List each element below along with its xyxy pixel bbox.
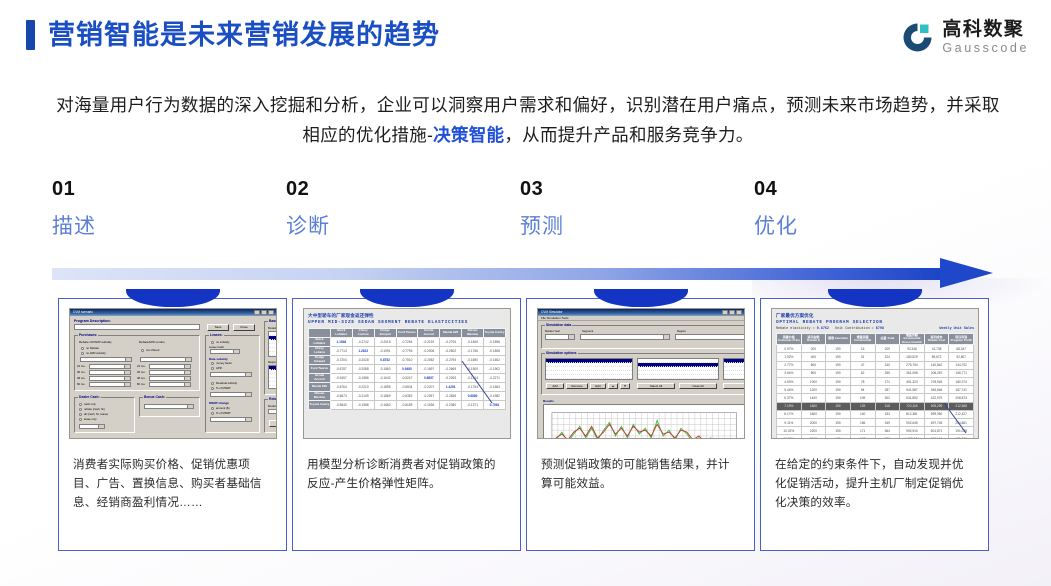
table-cell: 180,374 — [949, 377, 974, 385]
table-cell: 240 — [875, 361, 900, 369]
base-incentives-group: Base incentives Model(s) Select All Clea… — [264, 321, 277, 395]
table-cell: -0.2192 — [418, 337, 440, 346]
table-row: 3.64%80019062255361,058206,287156,771 — [777, 369, 974, 377]
table-cell: 16 — [850, 345, 875, 353]
term-48-combo-a[interactable] — [89, 376, 131, 381]
arrow-shaft — [52, 268, 945, 280]
card-describe[interactable]: CVM scenario Program Description: Purcha… — [58, 298, 287, 551]
dealer-cash-label: Dealer Cash: — [78, 395, 101, 399]
column-header: 销售价格 Customer Price — [777, 334, 802, 345]
table-cell: -0.6673 — [330, 391, 352, 400]
dialog-title-bar: CVM scenario — [70, 309, 276, 316]
table-cell: 287 — [875, 386, 900, 394]
table-cell: 156 — [850, 418, 875, 426]
segment-label: Segment — [582, 329, 593, 333]
lease-only-radio[interactable] — [79, 418, 82, 421]
results-label: Results — [543, 399, 554, 403]
bonus-cash-label: Bonus Cash: — [143, 395, 166, 399]
table-cell: 134,702 — [949, 361, 974, 369]
table-cell: -0.7713 — [330, 346, 352, 355]
table-cell: -0.2210 — [352, 382, 374, 391]
brand-logo: 高科数聚 Gausscode — [901, 20, 1029, 55]
term-36-combo-a[interactable] — [89, 370, 131, 375]
term-24-combo-a[interactable] — [89, 364, 131, 369]
card-screenshot-optimal: 厂家最优方案优化 OPTIMAL REBATE PROGRAM SELECTIO… — [771, 308, 979, 439]
window-controls[interactable] — [722, 309, 742, 316]
list-item — [546, 375, 632, 379]
table-cell: 361,058 — [900, 369, 925, 377]
table-cell: -0.2669 — [440, 364, 462, 373]
table-cell: 5.44% — [777, 386, 802, 394]
simulation-chart: JanAprJul OctDec Month Dodge Dakota sim … — [543, 404, 745, 439]
table-cell: 1.1548 — [330, 337, 352, 346]
table-cell: 349 — [875, 418, 900, 426]
column-header: 增量贡献 Incremental Gross Contrib — [900, 334, 925, 345]
term-60-combo-b[interactable] — [149, 382, 191, 387]
pct-msrp-radio[interactable] — [211, 387, 214, 390]
card-tab — [828, 289, 922, 307]
apr-combo[interactable] — [140, 357, 192, 362]
not-offered-label: not offered — [146, 348, 159, 352]
table-row: Buick LeSabre1.1548-0.2742-0.2018-0.7254… — [309, 337, 506, 346]
remove-button[interactable]: Remove — [566, 383, 588, 389]
table-cell: 992,910 — [900, 427, 925, 435]
slide-root: 营销智能是未来营销发展的趋势 高科数聚 Gausscode 对海量用户行为数据的… — [0, 0, 1051, 586]
table-cell: -0.6362 — [396, 391, 418, 400]
table-cell: 140,842 — [924, 361, 949, 369]
no-subsidy-radio[interactable] — [211, 341, 214, 344]
table-row: 2.77%60019047240275,754140,842134,702 — [777, 361, 974, 369]
simulation-options-group: Simulation options Add Remove Edit ▲ ▼ S… — [541, 353, 745, 395]
list-item — [269, 352, 277, 356]
rebase-incentives-group: Rebase incentives Model Region Clear Res… — [264, 399, 277, 433]
matrix-title-en: UPPER MID-SIZE SEDAN SEGMENT REBATE ELAS… — [308, 320, 506, 325]
step-number: 02 — [286, 178, 486, 201]
table-cell: 8.17% — [777, 410, 802, 418]
table-cell: 187,741 — [949, 386, 974, 394]
table-cell: 78 — [850, 377, 875, 385]
menu-bar[interactable]: File Simulation Tools — [538, 316, 744, 321]
table-cell: -0.5497 — [330, 373, 352, 382]
term-48-combo-b[interactable] — [149, 376, 191, 381]
table-cell: 180,529 — [900, 353, 925, 361]
gausscode-logo-icon — [901, 21, 934, 54]
rate-combo[interactable] — [210, 372, 252, 377]
table-cell: 812,381 — [900, 410, 925, 418]
optimal-title-en: OPTIMAL REBATE PROGRAM SELECTION — [776, 320, 974, 325]
table-cell: -0.2018 — [374, 337, 396, 346]
column-header: 返利成本 Rebate Cost — [924, 334, 949, 345]
table-cell: -0.1869 — [374, 391, 396, 400]
region-combo[interactable] — [675, 334, 745, 340]
column-header: 总量 Total — [875, 334, 900, 345]
options-list[interactable] — [545, 358, 633, 380]
table-header-row: Buick LeSabreChevy LuminaDodge IntrepidF… — [309, 328, 506, 337]
purchases-group: Purchases: Rebate CP/APR subsidy RebateA… — [74, 335, 200, 391]
table-row: 4.53%100019078271451,323278,949180,374 — [777, 377, 974, 385]
table-cell: 206,287 — [924, 369, 949, 377]
logo-name-en: Gausscode — [942, 42, 1029, 55]
table-cell: 2200 — [801, 427, 826, 435]
list-item — [269, 382, 277, 386]
lease-only-label: lease only — [84, 417, 97, 421]
step-item-1: 01 描述 — [52, 178, 252, 240]
table-cell: -0.1808 — [484, 346, 506, 355]
move-down-button[interactable]: ▼ — [620, 383, 630, 389]
table-cell: 190 — [826, 361, 851, 369]
program-description-input[interactable] — [74, 324, 200, 330]
table-cell: 318 — [875, 402, 900, 410]
table-cell: 190 — [826, 386, 851, 394]
table-cell: 4.53% — [777, 377, 802, 385]
table-cell: 1,083,174 — [900, 435, 925, 439]
column-header: Dodge Intrepid — [374, 328, 396, 337]
table-header-row: 销售价格 Customer Price返利金额 Rebate $期限 Incen… — [777, 334, 974, 345]
logo-name-cn: 高科数聚 — [942, 20, 1029, 39]
card-row: CVM scenario Program Description: Purcha… — [0, 298, 1051, 558]
step-labels: 01 描述 02 诊断 03 预测 04 优化 — [0, 178, 1051, 248]
all-cash-label: all (cash, fin, lease) — [84, 412, 108, 416]
table-cell: -0.2093 — [440, 373, 462, 382]
row-header: Ford Taurus — [309, 364, 331, 373]
arrow-head-icon — [940, 258, 993, 288]
column-header: 返利金额 Rebate $ — [801, 334, 826, 345]
table-cell: -0.5640 — [330, 400, 352, 409]
table-cell: -0.7793 — [396, 346, 418, 355]
table-cell: 255 — [875, 369, 900, 377]
leases-group: Leases: no subsidy Lease Cash Rate subsi… — [205, 335, 260, 433]
rebate-incl-radio[interactable] — [79, 408, 82, 411]
step-item-4: 04 优化 — [754, 178, 954, 240]
list-item — [638, 375, 718, 379]
bonus-cash-combo[interactable] — [144, 404, 194, 409]
optimal-subtitle: Rebate elasticity = 0.8752 Unit Contribu… — [776, 327, 974, 331]
table-cell: -0.1896 — [484, 337, 506, 346]
table-cell: 0.97% — [777, 345, 802, 353]
window-controls[interactable] — [254, 309, 274, 316]
region-label: Region — [677, 329, 686, 333]
table-cell: 92,807 — [949, 353, 974, 361]
card-screenshot-matrix: 大中型轿车的厂家现金返还弹性 UPPER MID-SIZE SEDAN SEGM… — [303, 308, 511, 439]
table-cell: -0.5247 — [396, 373, 418, 382]
rebate-combo[interactable] — [80, 357, 132, 362]
table-cell: -0.2149 — [352, 391, 374, 400]
residual-subsidy-radio[interactable] — [211, 382, 214, 385]
save-button[interactable]: Save — [207, 324, 229, 331]
matrix-title-cn: 大中型轿车的厂家现金返还弹性 — [308, 313, 506, 319]
table-cell: 190 — [826, 353, 851, 361]
rebate-incl-label: rebate (cash, fin) — [84, 407, 105, 411]
term-36-combo-b[interactable] — [149, 370, 191, 375]
table-cell: 156,771 — [949, 369, 974, 377]
dialog-title-text: CVM scenario — [73, 309, 93, 316]
slide-header: 营销智能是未来营销发展的趋势 — [26, 20, 440, 50]
table-cell: -0.1991 — [374, 346, 396, 355]
card-screenshot-simulation: CVM Simulator File Simulation Tools Simu… — [537, 308, 745, 439]
table-cell: 2400 — [801, 435, 826, 439]
table-cell: 93,346 — [900, 345, 925, 353]
table-cell: 224 — [875, 353, 900, 361]
simulation-data-group: Simulation data Market Year Segment Regi… — [541, 325, 745, 349]
table-cell: -0.7510 — [396, 355, 418, 364]
cash-only-radio[interactable] — [79, 403, 82, 406]
table-cell: 1000 — [801, 377, 826, 385]
clear-button[interactable]: Clear — [269, 420, 277, 427]
table-cell: -0.2836 — [440, 391, 462, 400]
table-cell: 1.2623 — [352, 346, 374, 355]
dialog-title-text: CVM Simulator — [541, 309, 562, 316]
graph-button[interactable]: Graph — [723, 383, 745, 389]
table-cell: 10.02% — [777, 427, 802, 435]
step-item-2: 02 诊断 — [286, 178, 486, 240]
table-cell: 0.8857 — [418, 373, 440, 382]
table-cell: -0.2380 — [440, 400, 462, 409]
table-cell: -0.2742 — [352, 337, 374, 346]
simulation-options-label: Simulation options — [545, 351, 578, 355]
column-header: Chevy Lumina — [352, 328, 374, 337]
table-cell: 10.93% — [777, 435, 802, 439]
select-all-button[interactable]: Select All — [637, 383, 675, 389]
table-cell: 68,347 — [949, 345, 974, 353]
table-cell: 333 — [875, 410, 900, 418]
simulator-window-mock: CVM Simulator File Simulation Tools Simu… — [538, 309, 744, 438]
column-header: 增量销量 Incremental — [850, 334, 875, 345]
rebate-apr-label: RebateAPR combo — [139, 340, 165, 344]
table-cell: 0.9480 — [396, 364, 418, 373]
step-number: 01 — [52, 178, 252, 201]
leases-label: Leases: — [209, 333, 224, 337]
column-header: Mazda 626 — [440, 328, 462, 337]
msrp-pct-radio[interactable] — [211, 412, 214, 415]
table-cell: 1.4291 — [440, 382, 462, 391]
table-cell: -0.1840 — [462, 337, 484, 346]
minimize-icon — [254, 310, 260, 315]
no-subsidy-label: no subsidy — [216, 340, 229, 344]
table-cell: -0.1660 — [374, 400, 396, 409]
no-rebate-label: no Rebate — [86, 346, 99, 350]
table-cell: -0.2028 — [352, 355, 374, 364]
card-predict[interactable]: CVM Simulator File Simulation Tools Simu… — [526, 298, 755, 551]
table-cell: -0.7204 — [330, 355, 352, 364]
table-cell: 1200 — [801, 386, 826, 394]
column-header: Ford Taurus — [396, 328, 418, 337]
column-header: Honda Accord — [418, 328, 440, 337]
close-button[interactable]: Close — [233, 324, 255, 331]
table-cell: 190 — [826, 369, 851, 377]
table-cell: -0.1642 — [374, 373, 396, 382]
table-cell: 631,852 — [900, 394, 925, 402]
logo-text: 高科数聚 Gausscode — [942, 20, 1029, 55]
regions-list[interactable] — [268, 365, 277, 389]
market-year-combo[interactable] — [545, 334, 575, 340]
base-incentives-label: Base incentives — [268, 319, 277, 323]
table-cell: 200 — [801, 345, 826, 353]
term-60-combo-a[interactable] — [89, 382, 131, 387]
msrp-change-combo[interactable] — [210, 417, 252, 422]
close-icon — [268, 310, 274, 315]
table-cell: 47 — [850, 361, 875, 369]
rebase-label: Rebase incentives — [268, 397, 277, 401]
card-caption: 消费者实际购买价格、促销优惠项目、广告、置换信息、购买者基础信息、经销商盈利情况… — [69, 455, 276, 512]
table-cell: 190 — [826, 410, 851, 418]
card-diagnose[interactable]: 大中型轿车的厂家现金返还弹性 UPPER MID-SIZE SEDAN SEGM… — [292, 298, 521, 551]
optimal-annotation-line — [942, 401, 968, 435]
market-year-label: Market Year — [545, 329, 560, 333]
all-cash-radio[interactable] — [79, 413, 82, 416]
residual-subsidy-label: Residual subsidy — [216, 381, 237, 385]
table-cell: 6.37% — [777, 394, 802, 402]
amount-label: amount ($) — [216, 406, 230, 410]
purchases-label: Purchases: — [78, 333, 98, 337]
models-list[interactable] — [268, 331, 277, 357]
step-label: 诊断 — [286, 210, 486, 240]
table-cell: -0.1697 — [418, 364, 440, 373]
table-cell: -0.6189 — [396, 400, 418, 409]
table-cell: -0.1936 — [418, 400, 440, 409]
money-factor-radio[interactable] — [211, 362, 214, 365]
term-24-combo-b[interactable] — [149, 364, 191, 369]
apr-label: APR — [216, 366, 222, 370]
table-cell: 190 — [826, 435, 851, 439]
table-cell: 7.19% — [777, 402, 802, 410]
table-cell: 89,672 — [924, 353, 949, 361]
models-label: Model(s) — [268, 326, 277, 330]
not-offered-radio[interactable] — [141, 349, 144, 352]
table-cell: -0.6764 — [330, 382, 352, 391]
dealer-cash-group: Dealer Cash: cash only rebate (cash, fin… — [74, 397, 135, 433]
lease-cash-combo[interactable] — [210, 349, 240, 354]
table-cell: 171,000 — [949, 435, 974, 439]
column-header: 项目利润 Program Profit — [949, 334, 974, 345]
table-cell: 364 — [875, 427, 900, 435]
step-item-3: 03 预测 — [520, 178, 720, 240]
residual-combo[interactable] — [210, 392, 252, 397]
progress-arrow — [52, 262, 992, 288]
table-cell: -0.1988 — [352, 400, 374, 409]
table-cell: 190 — [826, 402, 851, 410]
table-cell: 278,949 — [924, 377, 949, 385]
table-row: 0.97%2001901620993,34641,73868,347 — [777, 345, 974, 353]
page-title: 营销智能是未来营销发展的趋势 — [48, 20, 440, 50]
move-up-button[interactable]: ▲ — [608, 383, 618, 389]
no-apr-subsidy-radio[interactable] — [81, 352, 84, 355]
row-header: Toyota Camry — [309, 400, 331, 409]
table-cell: 1600 — [801, 402, 826, 410]
maximize-icon — [261, 310, 267, 315]
card-optimize[interactable]: 厂家最优方案优化 OPTIMAL REBATE PROGRAM SELECTIO… — [760, 298, 989, 551]
card-caption: 预测促销政策的可能销售结果，并计算可能效益。 — [537, 455, 744, 493]
table-cell: 451,323 — [900, 377, 925, 385]
table-cell: 125 — [850, 402, 875, 410]
minimize-icon — [722, 310, 728, 315]
lead-highlight: 决策智能 — [433, 125, 504, 145]
optimal-title-cn: 厂家最优方案优化 — [776, 313, 974, 319]
table-cell: -0.2052 — [418, 355, 440, 364]
card-caption: 在给定的约束条件下，自动发现并优化促销活动，提升主机厂制定促销优化决策的效率。 — [771, 455, 978, 512]
bonus-cash-group: Bonus Cash: — [139, 397, 200, 417]
table-cell: 1.92% — [777, 353, 802, 361]
table-cell: -0.1986 — [352, 373, 374, 382]
table-cell: 187 — [850, 435, 875, 439]
table-cell: -0.2057 — [418, 391, 440, 400]
table-cell: -0.2794 — [440, 355, 462, 364]
row-header: Chevy Lumina — [309, 346, 331, 355]
dealer-cash-combo[interactable] — [79, 424, 105, 429]
table-cell: 302 — [875, 394, 900, 402]
table-cell: 912,166 — [924, 435, 949, 439]
table-cell: 209 — [875, 345, 900, 353]
column-header: 期限 Incentive — [826, 334, 851, 345]
table-cell: 94 — [850, 386, 875, 394]
close-icon — [736, 310, 742, 315]
table-cell: 380 — [875, 435, 900, 439]
table-cell: 3.64% — [777, 369, 802, 377]
no-rebate-radio[interactable] — [81, 347, 84, 350]
table-cell: 902,645 — [900, 418, 925, 426]
msrp-change-label: MSRP change — [209, 401, 229, 405]
table-cell: 271 — [875, 377, 900, 385]
table-cell: -0.1895 — [374, 382, 396, 391]
column-header: Nissan Maxima — [462, 328, 484, 337]
step-number: 03 — [520, 178, 720, 201]
table-cell: -0.2794 — [440, 337, 462, 346]
table-cell: 190 — [826, 394, 851, 402]
row-header: Nissan Maxima — [309, 391, 331, 400]
table-cell: 190 — [826, 345, 851, 353]
diagonal-annotation-line — [460, 359, 494, 405]
step-number: 04 — [754, 178, 954, 201]
title-accent-bar — [26, 20, 35, 50]
edit-button[interactable]: Edit — [590, 383, 606, 389]
msrp-pct-label: % of MSRP — [216, 411, 230, 415]
table-cell: 171 — [850, 427, 875, 435]
lead-paragraph: 对海量用户行为数据的深入挖掘和分析，企业可以洞察用户需求和偏好，识别潜在用户痛点… — [52, 90, 1004, 150]
card-screenshot-dialog: CVM scenario Program Description: Purcha… — [69, 308, 277, 439]
table-cell: -0.2602 — [440, 346, 462, 355]
column-header: Toyota Camry — [484, 328, 506, 337]
table-cell: -0.2207 — [418, 382, 440, 391]
table-cell: 9.11% — [777, 418, 802, 426]
amount-radio[interactable] — [211, 407, 214, 410]
list-item — [724, 375, 745, 379]
pct-msrp-label: % of MSRP — [216, 386, 230, 390]
table-cell: 62 — [850, 369, 875, 377]
apr-radio[interactable] — [211, 367, 214, 370]
model-list[interactable] — [637, 358, 719, 380]
table-row: 10.93%24001901873801,083,174912,166171,0… — [777, 435, 974, 439]
table-cell: 722,116 — [900, 402, 925, 410]
table-cell: 600 — [801, 361, 826, 369]
table-cell: 0.8752 — [374, 355, 396, 364]
add-button[interactable]: Add — [546, 383, 564, 389]
step-label: 优化 — [754, 210, 954, 240]
cash-only-label: cash only — [84, 402, 96, 406]
segment-combo[interactable] — [580, 334, 670, 340]
scenario-list[interactable] — [723, 358, 745, 380]
row-header: Honda Accord — [309, 373, 331, 382]
table-cell: 109 — [850, 394, 875, 402]
table-cell: 541,587 — [900, 386, 925, 394]
card-caption: 用模型分析诊断消费者对促销政策的反应-产生价格弹性矩阵。 — [303, 455, 510, 493]
rebase-model-combo[interactable] — [268, 409, 277, 414]
maximize-icon — [729, 310, 735, 315]
table-cell: 41,738 — [924, 345, 949, 353]
table-cell: 2000 — [801, 418, 826, 426]
lead-part2: ，从而提升产品和服务竞争力。 — [504, 125, 753, 145]
table-row: 1.92%40019031224180,52989,67292,807 — [777, 353, 974, 361]
table-cell: 190 — [826, 418, 851, 426]
clear-all-button[interactable]: Clear All — [679, 383, 717, 389]
